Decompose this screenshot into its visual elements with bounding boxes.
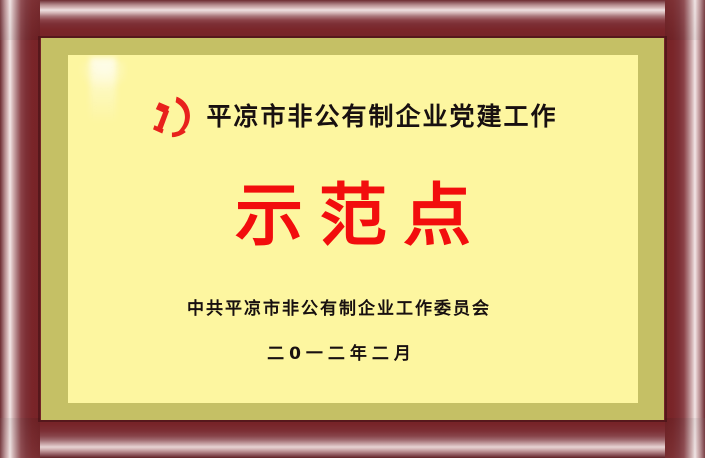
plaque-face: 平凉市非公有制企业党建工作 示范点 中共平凉市非公有制企业工作委员会 二0一二年… (68, 55, 638, 403)
plaque-title: 平凉市非公有制企业党建工作 (206, 104, 557, 129)
hammer-and-sickle-icon (148, 93, 194, 139)
plaque-content: 平凉市非公有制企业党建工作 示范点 中共平凉市非公有制企业工作委员会 二0一二年… (68, 55, 638, 403)
issuing-organization: 中共平凉市非公有制企业工作委员会 (68, 301, 610, 318)
award-designation: 示范点 (68, 183, 638, 251)
frame-bevel-bottom (0, 418, 705, 458)
plaque-title-row: 平凉市非公有制企业党建工作 (68, 93, 638, 139)
signature-block: 中共平凉市非公有制企业工作委员会 二0一二年二月 (68, 301, 610, 363)
issue-date: 二0一二年二月 (68, 346, 610, 363)
frame-bevel-top (0, 0, 705, 40)
frame-bevel-right (665, 0, 705, 458)
frame-bevel-left (0, 0, 40, 458)
award-plaque: 平凉市非公有制企业党建工作 示范点 中共平凉市非公有制企业工作委员会 二0一二年… (0, 0, 705, 458)
